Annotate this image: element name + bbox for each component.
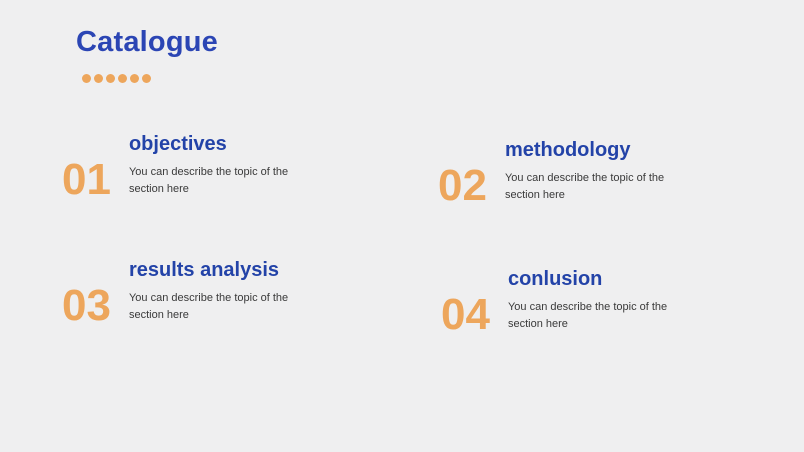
- item-heading: objectives: [129, 132, 319, 156]
- list-item[interactable]: 02 methodology You can describe the topi…: [438, 138, 695, 208]
- item-text-block: results analysis You can describe the to…: [129, 258, 319, 324]
- item-description: You can describe the topic of the sectio…: [508, 299, 698, 333]
- slide-canvas: Catalogue 01 objectives You can describe…: [0, 0, 804, 452]
- item-heading: methodology: [505, 138, 695, 162]
- catalogue-items: 01 objectives You can describe the topic…: [0, 0, 804, 452]
- list-item[interactable]: 04 conlusion You can describe the topic …: [441, 267, 698, 337]
- item-text-block: objectives You can describe the topic of…: [129, 132, 319, 198]
- item-number: 03: [62, 284, 111, 328]
- item-number: 01: [62, 158, 111, 202]
- list-item[interactable]: 01 objectives You can describe the topic…: [62, 132, 319, 202]
- item-description: You can describe the topic of the sectio…: [129, 164, 319, 198]
- item-text-block: conlusion You can describe the topic of …: [508, 267, 698, 333]
- item-number: 02: [438, 164, 487, 208]
- list-item[interactable]: 03 results analysis You can describe the…: [62, 258, 319, 328]
- item-heading: results analysis: [129, 258, 319, 282]
- item-heading: conlusion: [508, 267, 698, 291]
- item-description: You can describe the topic of the sectio…: [505, 170, 695, 204]
- item-number: 04: [441, 293, 490, 337]
- item-text-block: methodology You can describe the topic o…: [505, 138, 695, 204]
- item-description: You can describe the topic of the sectio…: [129, 290, 319, 324]
